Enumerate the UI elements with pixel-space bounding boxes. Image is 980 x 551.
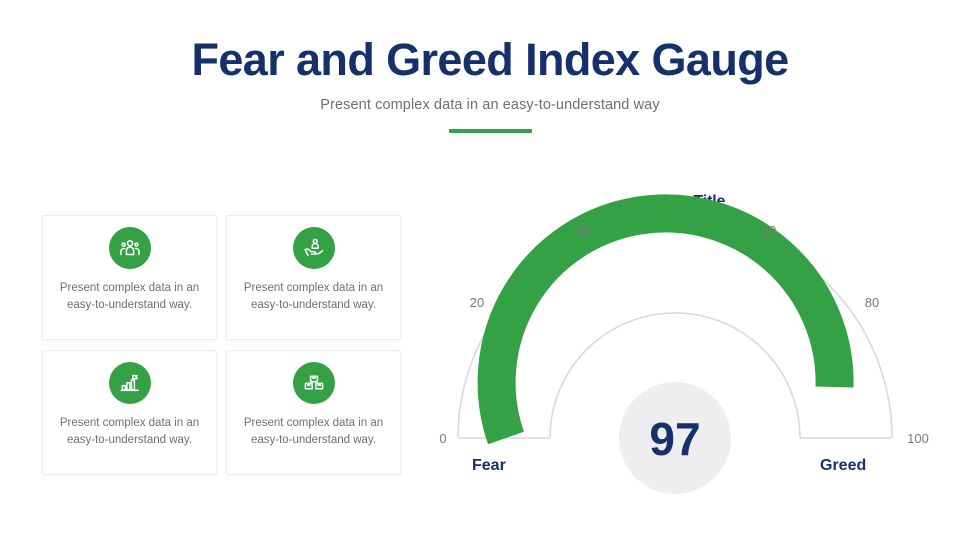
bar-chart-flag-icon [109, 362, 151, 404]
people-group-icon [109, 227, 151, 269]
hand-holding-person-icon [293, 227, 335, 269]
gauge-tick-60: 60 [762, 223, 776, 238]
feature-card[interactable]: Present complex data in an easy-to-under… [42, 215, 217, 340]
feature-card-text: Present complex data in an easy-to-under… [43, 415, 216, 448]
feature-card-text: Present complex data in an easy-to-under… [227, 280, 400, 313]
gauge-label-greed: Greed [820, 457, 866, 475]
gauge-tick-80: 80 [865, 295, 879, 310]
gauge-chart: Your Title 97 0 20 40 60 80 100 Fear Gre… [420, 180, 960, 500]
feature-card-text: Present complex data in an easy-to-under… [43, 280, 216, 313]
gauge-tick-20: 20 [470, 295, 484, 310]
gauge-tick-0: 0 [439, 431, 446, 446]
gauge-tick-100: 100 [907, 431, 929, 446]
feature-card-grid: Present complex data in an easy-to-under… [42, 215, 402, 475]
accent-divider [449, 129, 532, 133]
page-subtitle: Present complex data in an easy-to-under… [0, 97, 980, 113]
feature-card[interactable]: Present complex data in an easy-to-under… [42, 350, 217, 475]
gauge-label-fear: Fear [472, 457, 506, 475]
page-title: Fear and Greed Index Gauge [0, 36, 980, 83]
slide-root: Fear and Greed Index Gauge Present compl… [0, 0, 980, 551]
stacked-boxes-icon [293, 362, 335, 404]
feature-card-text: Present complex data in an easy-to-under… [227, 415, 400, 448]
gauge-svg: 97 0 20 40 60 80 100 [420, 180, 960, 500]
gauge-tick-40: 40 [576, 223, 590, 238]
header: Fear and Greed Index Gauge Present compl… [0, 36, 980, 133]
gauge-value-text: 97 [649, 413, 700, 465]
feature-card[interactable]: Present complex data in an easy-to-under… [226, 215, 401, 340]
feature-card[interactable]: Present complex data in an easy-to-under… [226, 350, 401, 475]
